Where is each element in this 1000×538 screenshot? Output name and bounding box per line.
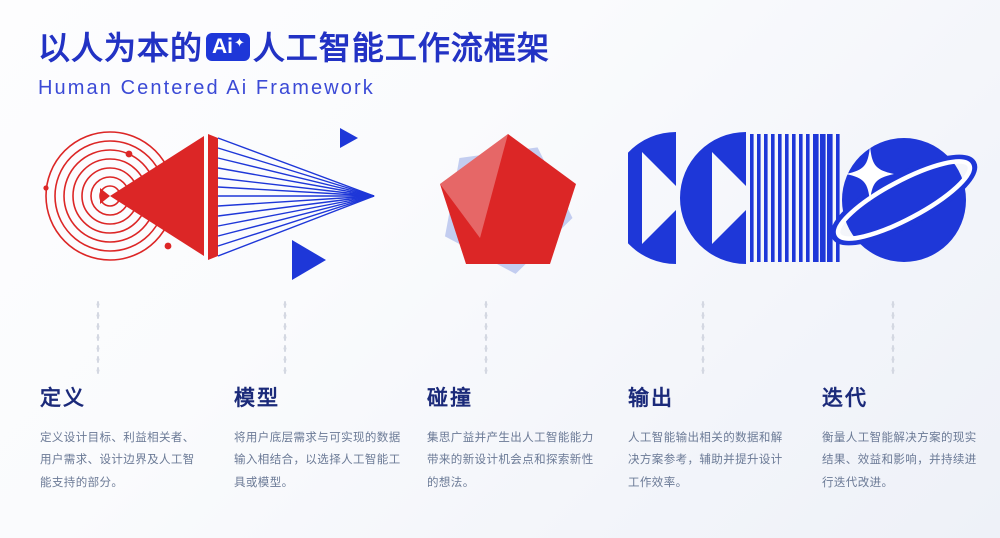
infographic-canvas: 以人为本的 Ai ✦ 人工智能工作流框架 Human Centered Ai F… (0, 0, 1000, 538)
step-heading: 模型 (234, 388, 409, 409)
icon-output (628, 118, 838, 303)
step-heading: 定义 (40, 388, 205, 409)
step-column-iterate: 迭代 衡量人工智能解决方案的现实结果、效益和影响，并持续进行迭代改进。 (822, 388, 987, 494)
step-heading: 碰撞 (427, 388, 602, 409)
title-text-before: 以人为本的 (38, 28, 203, 68)
step-column-model: 模型 将用户底层需求与可实现的数据输入相结合，以选择人工智能工具或模型。 (234, 388, 409, 494)
step-body: 将用户底层需求与可实现的数据输入相结合，以选择人工智能工具或模型。 (234, 427, 409, 494)
step-heading: 迭代 (822, 388, 987, 409)
page-title: 以人为本的 Ai ✦ 人工智能工作流框架 (38, 28, 550, 68)
planet-sparkle-icon (812, 118, 1000, 303)
ai-badge: Ai ✦ (206, 33, 250, 61)
icon-iterate (812, 118, 1000, 303)
connector-dots-4 (701, 299, 705, 377)
step-body: 定义设计目标、利益相关者、用户需求、设计边界及人工智能支持的部分。 (40, 427, 205, 494)
pentagon-collision-icon (418, 118, 598, 303)
converging-rays-icon (196, 118, 396, 303)
step-column-define: 定义 定义设计目标、利益相关者、用户需求、设计边界及人工智能支持的部分。 (40, 388, 205, 494)
connector-dots-2 (283, 299, 287, 377)
step-column-output: 输出 人工智能输出相关的数据和解决方案参考，辅助并提升设计工作效率。 (628, 388, 791, 494)
connector-dots-3 (484, 299, 488, 377)
icon-row (0, 118, 1000, 303)
step-heading: 输出 (628, 388, 791, 409)
sparkle-icon: ✦ (234, 36, 245, 49)
step-body: 衡量人工智能解决方案的现实结果、效益和影响，并持续进行迭代改进。 (822, 427, 987, 494)
page-subtitle: Human Centered Ai Framework (38, 77, 550, 100)
icon-model (196, 118, 396, 303)
step-body: 人工智能输出相关的数据和解决方案参考，辅助并提升设计工作效率。 (628, 427, 791, 494)
title-text-after: 人工智能工作流框架 (253, 28, 550, 68)
page-header: 以人为本的 Ai ✦ 人工智能工作流框架 Human Centered Ai F… (38, 28, 550, 100)
ai-badge-label: Ai (212, 36, 233, 57)
icon-collide (418, 118, 598, 303)
step-body: 集思广益并产生出人工智能能力带来的新设计机会点和探索新性的想法。 (427, 427, 602, 494)
connector-dots-1 (96, 299, 100, 377)
double-arc-stripes-icon (628, 118, 838, 303)
connector-dots-5 (891, 299, 895, 377)
step-column-collide: 碰撞 集思广益并产生出人工智能能力带来的新设计机会点和探索新性的想法。 (427, 388, 602, 494)
